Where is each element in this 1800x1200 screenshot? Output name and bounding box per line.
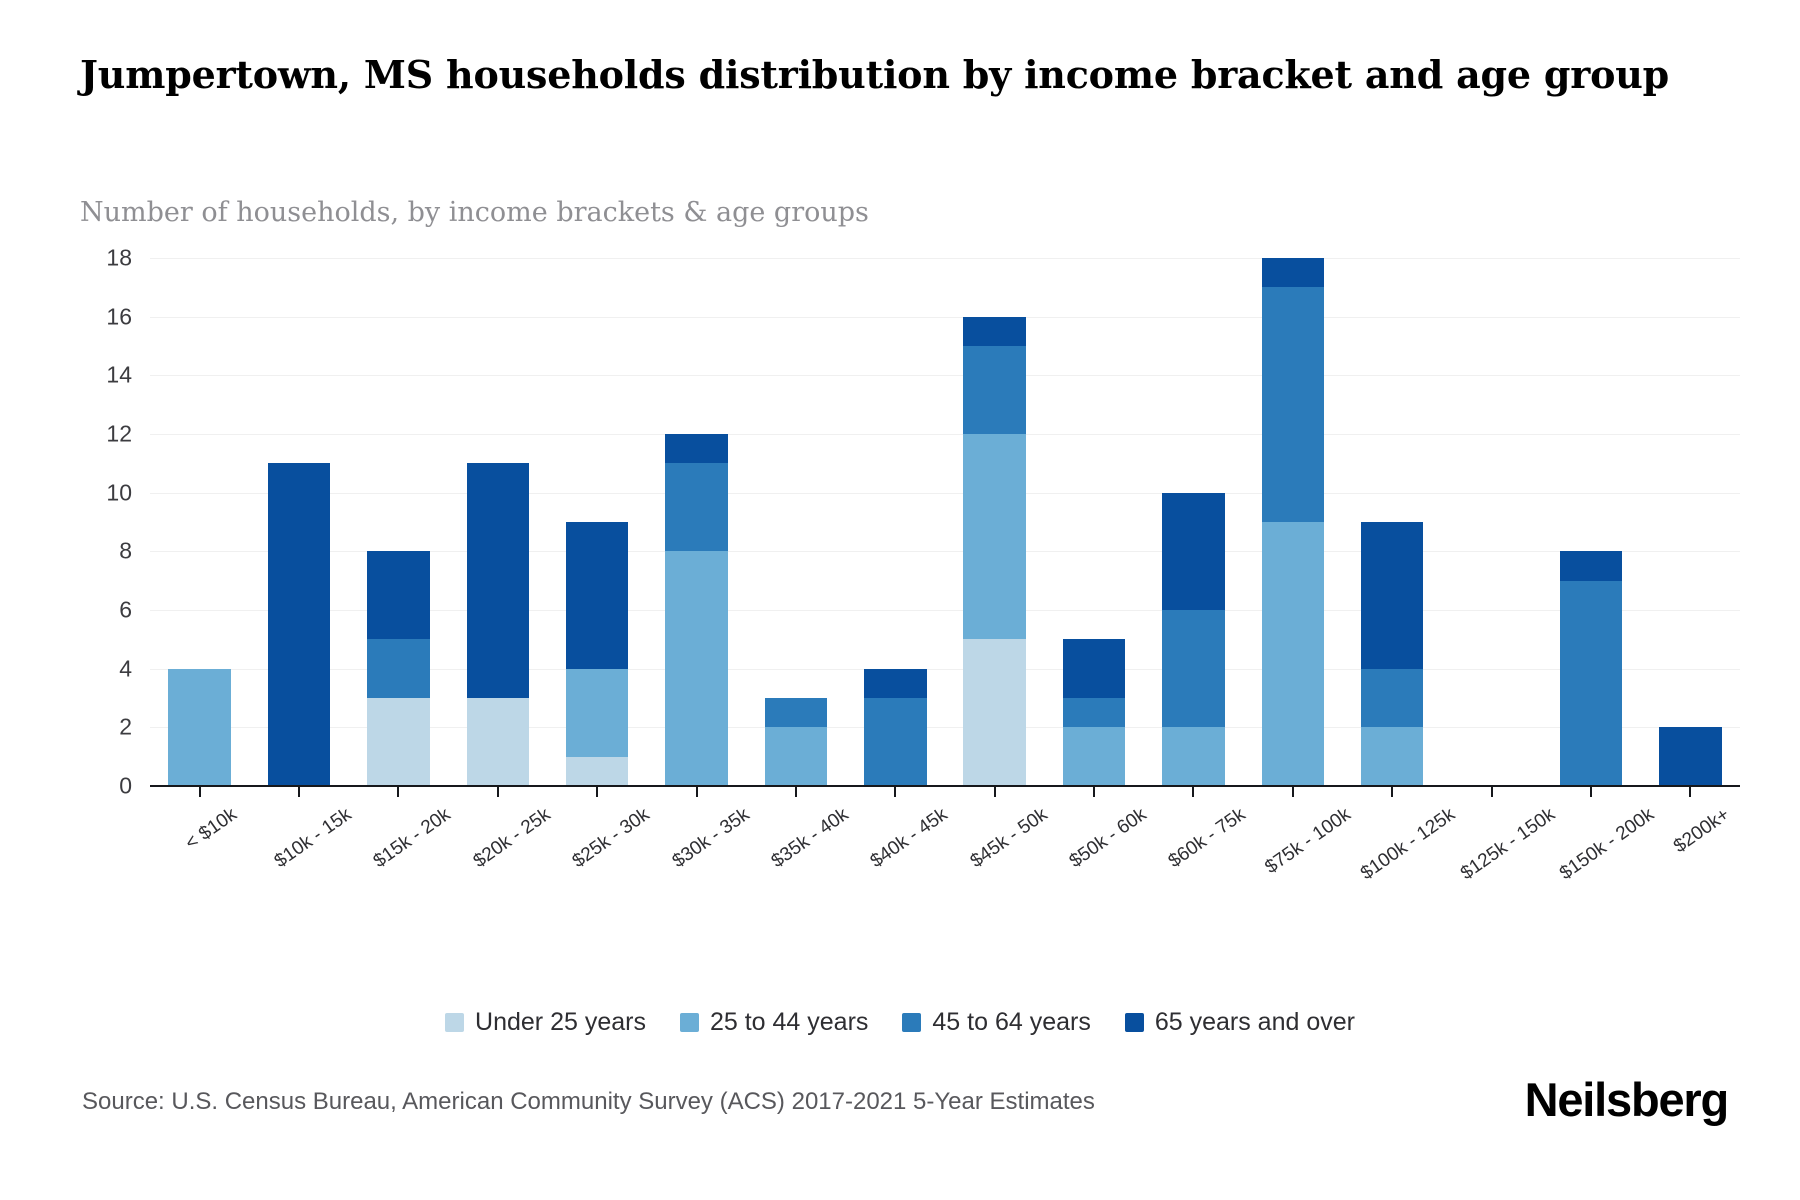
bar-segment[interactable] <box>1162 493 1225 610</box>
x-axis-label-slot: $15k - 20k <box>349 800 448 900</box>
x-axis-label-slot: $25k - 30k <box>548 800 647 900</box>
bar-group[interactable] <box>150 258 249 786</box>
source-note: Source: U.S. Census Bureau, American Com… <box>82 1088 1095 1116</box>
x-axis-tick <box>1442 786 1541 800</box>
bar-segment[interactable] <box>467 698 530 786</box>
bar-segment[interactable] <box>1361 669 1424 728</box>
y-axis-tick-label: 2 <box>12 714 132 741</box>
x-axis-tick-mark <box>894 786 896 797</box>
bar-segment[interactable] <box>1361 522 1424 669</box>
brand-logo: Neilsberg <box>1525 1072 1728 1127</box>
x-axis-tick <box>746 786 845 800</box>
bar-group[interactable] <box>448 258 547 786</box>
x-axis-tick-mark <box>298 786 300 797</box>
bar-segment[interactable] <box>168 669 231 786</box>
bar-segment[interactable] <box>1659 727 1722 786</box>
x-axis-tick-mark <box>795 786 797 797</box>
bar-stack[interactable] <box>1361 522 1424 786</box>
x-axis-tick-mark <box>1491 786 1493 797</box>
x-axis-tick-mark <box>596 786 598 797</box>
bar-segment[interactable] <box>963 434 1026 639</box>
y-axis-tick-label: 14 <box>12 362 132 389</box>
legend-label: 25 to 44 years <box>710 1008 868 1037</box>
x-axis-label-slot: $10k - 15k <box>249 800 348 900</box>
legend-label: 45 to 64 years <box>932 1008 1090 1037</box>
x-axis-label-slot: < $10k <box>150 800 249 900</box>
bar-group[interactable] <box>945 258 1044 786</box>
x-axis-label-slot: $30k - 35k <box>647 800 746 900</box>
x-axis-tick <box>349 786 448 800</box>
bar-group[interactable] <box>1541 258 1640 786</box>
bar-segment[interactable] <box>665 463 728 551</box>
legend-item[interactable]: 25 to 44 years <box>680 1008 868 1037</box>
bar-segment[interactable] <box>367 698 430 786</box>
bar-segment[interactable] <box>1162 610 1225 727</box>
bar-segment[interactable] <box>1560 581 1623 786</box>
x-axis-label-slot: $125k - 150k <box>1442 800 1541 900</box>
bar-segment[interactable] <box>367 551 430 639</box>
x-axis-tick-mark <box>1590 786 1592 797</box>
x-axis-label-slot: $50k - 60k <box>1044 800 1143 900</box>
bar-segment[interactable] <box>665 551 728 786</box>
bar-group[interactable] <box>1144 258 1243 786</box>
bar-group[interactable] <box>1343 258 1442 786</box>
bar-stack[interactable] <box>467 463 530 786</box>
legend-swatch-icon <box>680 1013 699 1032</box>
legend: Under 25 years25 to 44 years45 to 64 yea… <box>0 1008 1800 1037</box>
bar-segment[interactable] <box>268 463 331 786</box>
y-axis-tick-label: 0 <box>12 773 132 800</box>
bar-segment[interactable] <box>566 669 629 757</box>
x-axis-tick-label: $75k - 100k <box>1261 804 1355 879</box>
bar-stack[interactable] <box>1560 551 1623 786</box>
x-axis-label-slot: $40k - 45k <box>846 800 945 900</box>
bar-stack[interactable] <box>566 522 629 786</box>
bar-stack[interactable] <box>864 669 927 786</box>
x-axis-tick-label: $60k - 75k <box>1165 804 1250 873</box>
bar-segment[interactable] <box>1063 727 1126 786</box>
legend-item[interactable]: Under 25 years <box>445 1008 646 1037</box>
bar-segment[interactable] <box>665 434 728 463</box>
y-axis-tick-label: 12 <box>12 421 132 448</box>
bar-segment[interactable] <box>1361 727 1424 786</box>
bar-segment[interactable] <box>963 346 1026 434</box>
x-axis-tick <box>945 786 1044 800</box>
bar-segment[interactable] <box>1162 727 1225 786</box>
x-axis-tick-label: $20k - 25k <box>469 804 554 873</box>
bar-stack[interactable] <box>765 698 828 786</box>
bar-stack[interactable] <box>1162 493 1225 786</box>
legend-label: Under 25 years <box>475 1008 646 1037</box>
x-axis-tick-label: < $10k <box>181 804 241 855</box>
y-axis-tick-label: 10 <box>12 479 132 506</box>
x-axis-tick <box>548 786 647 800</box>
x-axis-label-slot: $35k - 40k <box>746 800 845 900</box>
bar-segment[interactable] <box>1560 551 1623 580</box>
bar-segment[interactable] <box>1262 287 1325 522</box>
bar-segment[interactable] <box>566 757 629 786</box>
chart-page: Jumpertown, MS households distribution b… <box>0 0 1800 1200</box>
bar-stack[interactable] <box>168 669 231 786</box>
bar-group[interactable] <box>349 258 448 786</box>
x-axis-tick <box>249 786 348 800</box>
y-axis-tick-label: 18 <box>12 245 132 272</box>
x-axis-tick <box>150 786 249 800</box>
legend-swatch-icon <box>1125 1013 1144 1032</box>
page-title: Jumpertown, MS households distribution b… <box>80 52 1700 98</box>
x-axis-tick <box>1044 786 1143 800</box>
legend-item[interactable]: 65 years and over <box>1125 1008 1355 1037</box>
bar-group[interactable] <box>548 258 647 786</box>
bar-segment[interactable] <box>566 522 629 669</box>
bar-group[interactable] <box>1044 258 1143 786</box>
bar-segment[interactable] <box>467 463 530 698</box>
y-axis-tick-label: 4 <box>12 655 132 682</box>
bar-segment[interactable] <box>1063 639 1126 698</box>
bar-segment[interactable] <box>963 639 1026 786</box>
bar-segment[interactable] <box>864 669 927 698</box>
x-axis-tick-mark <box>497 786 499 797</box>
x-axis-tick-label: $50k - 60k <box>1066 804 1151 873</box>
x-axis-tick <box>846 786 945 800</box>
x-axis-label-slot: $100k - 125k <box>1343 800 1442 900</box>
x-axis-tick-mark <box>199 786 201 797</box>
x-axis-label-slot: $45k - 50k <box>945 800 1044 900</box>
x-axis-tick-mark <box>1292 786 1294 797</box>
bar-segment[interactable] <box>864 698 927 786</box>
legend-item[interactable]: 45 to 64 years <box>902 1008 1090 1037</box>
page-subtitle: Number of households, by income brackets… <box>80 197 1580 228</box>
x-axis-tick-label: $30k - 35k <box>668 804 753 873</box>
bar-stack[interactable] <box>367 551 430 786</box>
x-axis-tick <box>1641 786 1740 800</box>
bar-stack[interactable] <box>963 317 1026 786</box>
x-axis-tick-label: $40k - 45k <box>867 804 952 873</box>
x-axis-tick-mark <box>696 786 698 797</box>
bar-segment[interactable] <box>963 317 1026 346</box>
bar-segment[interactable] <box>765 698 828 727</box>
bar-series-group <box>150 258 1740 786</box>
x-axis-tick <box>1243 786 1342 800</box>
x-axis-label-slot: $60k - 75k <box>1144 800 1243 900</box>
x-axis-tick-mark <box>1689 786 1691 797</box>
x-axis-tick-label: $25k - 30k <box>569 804 654 873</box>
x-axis-tick-mark <box>397 786 399 797</box>
bar-segment[interactable] <box>1063 698 1126 727</box>
legend-swatch-icon <box>902 1013 921 1032</box>
x-axis-label-slot: $150k - 200k <box>1541 800 1640 900</box>
bar-group[interactable] <box>1641 258 1740 786</box>
y-axis-tick-label: 8 <box>12 538 132 565</box>
x-axis-tick <box>1541 786 1640 800</box>
y-axis-tick-label: 6 <box>12 597 132 624</box>
x-axis-tick-label: $15k - 20k <box>370 804 455 873</box>
bar-stack[interactable] <box>268 463 331 786</box>
x-axis-tick-mark <box>994 786 996 797</box>
x-axis-tick-mark <box>1093 786 1095 797</box>
x-axis-tick <box>448 786 547 800</box>
legend-label: 65 years and over <box>1155 1008 1355 1037</box>
x-axis-tick <box>647 786 746 800</box>
bar-segment[interactable] <box>765 727 828 786</box>
bar-stack[interactable] <box>1659 727 1722 786</box>
bar-segment[interactable] <box>1262 258 1325 287</box>
x-axis-tick <box>1144 786 1243 800</box>
x-axis-tick <box>1343 786 1442 800</box>
bar-group[interactable] <box>746 258 845 786</box>
bar-stack[interactable] <box>1262 258 1325 786</box>
bar-stack[interactable] <box>1063 639 1126 786</box>
x-axis-tick-label: $200k+ <box>1670 804 1734 858</box>
x-axis-label-slot: $20k - 25k <box>448 800 547 900</box>
y-axis-tick-label: 16 <box>12 303 132 330</box>
x-axis-labels: < $10k$10k - 15k$15k - 20k$20k - 25k$25k… <box>150 800 1740 900</box>
bar-segment[interactable] <box>367 639 430 698</box>
bar-group[interactable] <box>1243 258 1342 786</box>
x-axis-tick-label: $35k - 40k <box>768 804 853 873</box>
x-axis-tick-label: $45k - 50k <box>966 804 1051 873</box>
legend-swatch-icon <box>445 1013 464 1032</box>
x-axis-tick-mark <box>1192 786 1194 797</box>
bar-group[interactable] <box>1442 258 1541 786</box>
plot-area: 024681012141618 <box>150 258 1740 786</box>
bar-group[interactable] <box>846 258 945 786</box>
x-axis-tick-marks <box>150 786 1740 800</box>
bar-stack[interactable] <box>665 434 728 786</box>
x-axis-tick-label: $10k - 15k <box>271 804 356 873</box>
x-axis-label-slot: $75k - 100k <box>1243 800 1342 900</box>
x-axis-tick-mark <box>1391 786 1393 797</box>
bar-segment[interactable] <box>1262 522 1325 786</box>
x-axis-label-slot: $200k+ <box>1641 800 1740 900</box>
bar-group[interactable] <box>249 258 348 786</box>
bar-group[interactable] <box>647 258 746 786</box>
